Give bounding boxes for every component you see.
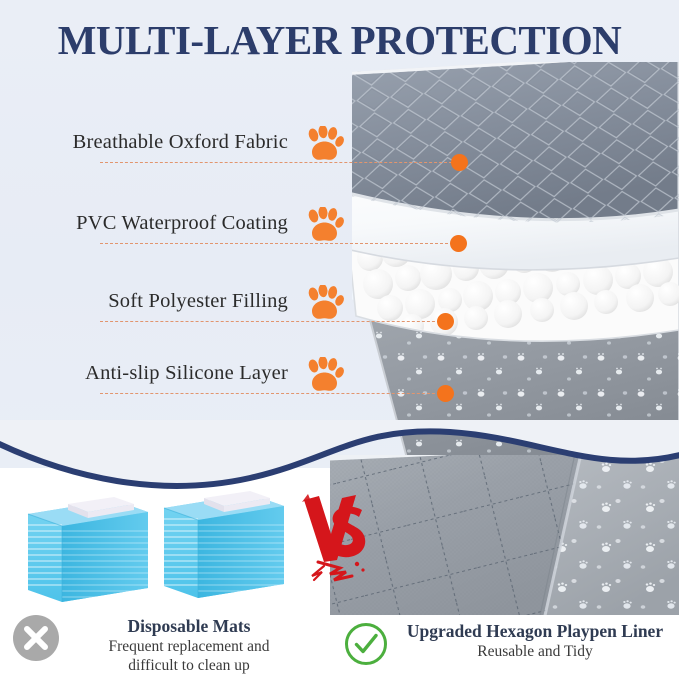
x-icon <box>12 614 60 667</box>
feature-label: PVC Waterproof Coating <box>76 212 288 235</box>
feature-row: Anti-slip Silicone Layer <box>0 362 350 392</box>
paw-icon <box>304 357 344 395</box>
pad-stack <box>28 497 148 602</box>
check-icon <box>343 621 389 672</box>
leader-line <box>100 162 462 163</box>
leader-endpoint-dot <box>450 235 467 252</box>
leader-endpoint-dot <box>437 313 454 330</box>
feature-label: Anti-slip Silicone Layer <box>85 362 288 385</box>
page-title: MULTI-LAYER PROTECTION <box>0 16 679 64</box>
right-title: Upgraded Hexagon Playpen Liner <box>390 621 679 642</box>
left-subtitle-line2: difficult to clean up <box>58 656 320 675</box>
paw-icon <box>304 285 344 323</box>
layer-illustration <box>352 62 679 462</box>
right-subtitle: Reusable and Tidy <box>390 642 679 661</box>
leader-line <box>100 321 445 322</box>
infographic-root: MULTI-LAYER PROTECTION <box>0 0 679 675</box>
leader-line <box>100 243 458 244</box>
leader-endpoint-dot <box>451 154 468 171</box>
feature-row: Soft Polyester Filling <box>0 290 350 320</box>
feature-row: PVC Waterproof Coating <box>0 212 350 242</box>
wave-divider <box>0 420 679 510</box>
paw-icon <box>304 126 344 164</box>
left-subtitle-line1: Frequent replacement and <box>58 637 320 656</box>
feature-label: Breathable Oxford Fabric <box>73 131 288 154</box>
feature-row: Breathable Oxford Fabric <box>0 131 350 161</box>
left-title: Disposable Mats <box>58 616 320 637</box>
feature-label: Soft Polyester Filling <box>108 290 288 313</box>
top-section: MULTI-LAYER PROTECTION <box>0 0 679 480</box>
leader-endpoint-dot <box>437 385 454 402</box>
paw-icon <box>304 207 344 245</box>
leader-line <box>100 393 445 394</box>
right-caption: Upgraded Hexagon Playpen Liner Reusable … <box>330 615 679 675</box>
